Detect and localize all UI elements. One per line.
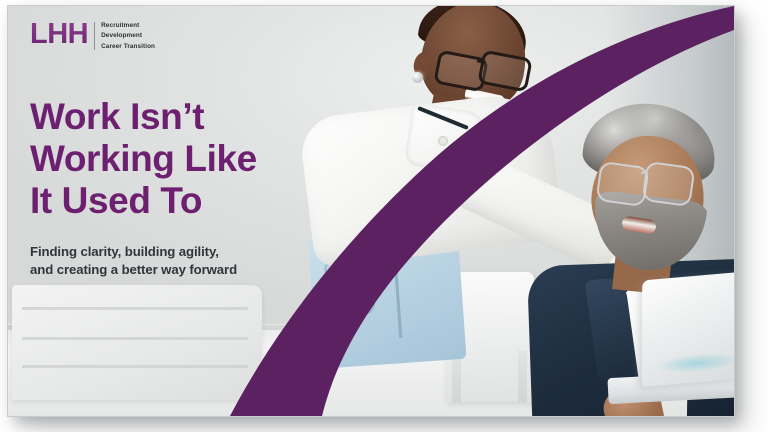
- woman-earring: [412, 72, 423, 83]
- logo-tagline-line-1: Recruitment: [101, 21, 155, 31]
- headline-line-2: Working Like: [30, 138, 330, 180]
- lhh-logo-mark: LHH: [30, 20, 88, 49]
- headline-line-3: It Used To: [30, 180, 330, 222]
- presentation-slide: LHH Recruitment Development Career Trans…: [8, 6, 734, 416]
- logo-tagline-line-2: Development: [101, 31, 155, 41]
- logo-tagline-line-3: Career Transition: [101, 42, 155, 52]
- lhh-logo-tagline: Recruitment Development Career Transitio…: [101, 20, 155, 52]
- headline-line-1: Work Isn’t: [30, 96, 330, 138]
- logo-divider: [94, 22, 95, 50]
- subtitle-line-1: Finding clarity, building agility,: [30, 243, 330, 262]
- slide-text-column: LHH Recruitment Development Career Trans…: [30, 20, 330, 280]
- photo-chair-left: [12, 285, 262, 400]
- slide-subtitle: Finding clarity, building agility, and c…: [30, 243, 330, 280]
- man-glasses: [595, 161, 649, 207]
- slide-headline: Work Isn’t Working Like It Used To: [30, 96, 330, 223]
- slide-frame: LHH Recruitment Development Career Trans…: [8, 6, 734, 416]
- subtitle-line-2: and creating a better way forward: [30, 261, 330, 280]
- lhh-logo[interactable]: LHH Recruitment Development Career Trans…: [30, 20, 330, 52]
